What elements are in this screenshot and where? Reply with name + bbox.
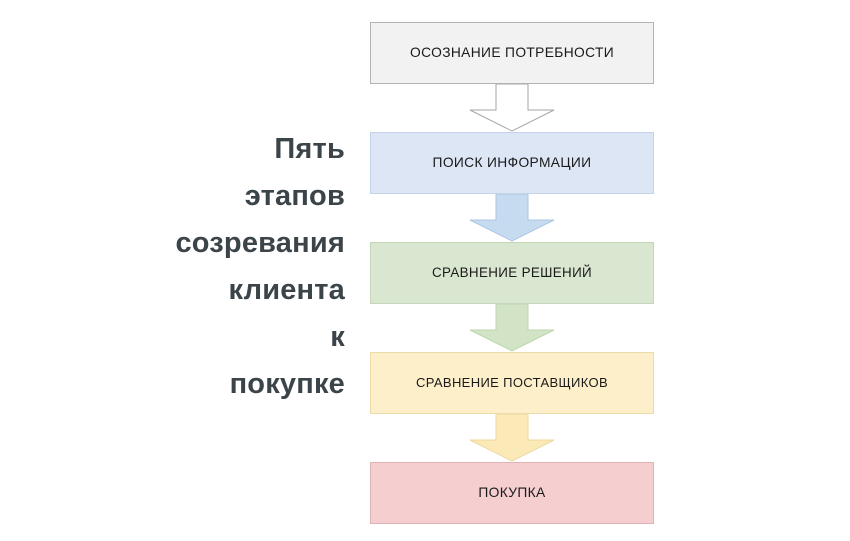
- process-flow: ОСОЗНАНИЕ ПОТРЕБНОСТИ ПОИСК ИНФОРМАЦИИ С…: [370, 22, 654, 522]
- flow-step-1[interactable]: ОСОЗНАНИЕ ПОТРЕБНОСТИ: [370, 22, 654, 84]
- down-arrow-icon-1: [458, 84, 566, 132]
- down-arrow-icon-3: [458, 304, 566, 352]
- down-arrow-icon-2: [458, 194, 566, 242]
- flow-step-5[interactable]: ПОКУПКА: [370, 462, 654, 524]
- flow-step-4[interactable]: СРАВНЕНИЕ ПОСТАВЩИКОВ: [370, 352, 654, 414]
- flow-step-1-label: ОСОЗНАНИЕ ПОТРЕБНОСТИ: [402, 45, 622, 61]
- diagram-canvas: Пять этапов созревания клиента к покупке…: [0, 0, 850, 541]
- page-title: Пять этапов созревания клиента к покупке: [140, 126, 345, 408]
- flow-step-2[interactable]: ПОИСК ИНФОРМАЦИИ: [370, 132, 654, 194]
- flow-step-5-label: ПОКУПКА: [470, 485, 553, 501]
- flow-step-4-label: СРАВНЕНИЕ ПОСТАВЩИКОВ: [408, 376, 616, 391]
- flow-step-2-label: ПОИСК ИНФОРМАЦИИ: [425, 155, 600, 171]
- flow-step-3[interactable]: СРАВНЕНИЕ РЕШЕНИЙ: [370, 242, 654, 304]
- down-arrow-icon-4: [458, 414, 566, 462]
- flow-step-3-label: СРАВНЕНИЕ РЕШЕНИЙ: [424, 265, 600, 280]
